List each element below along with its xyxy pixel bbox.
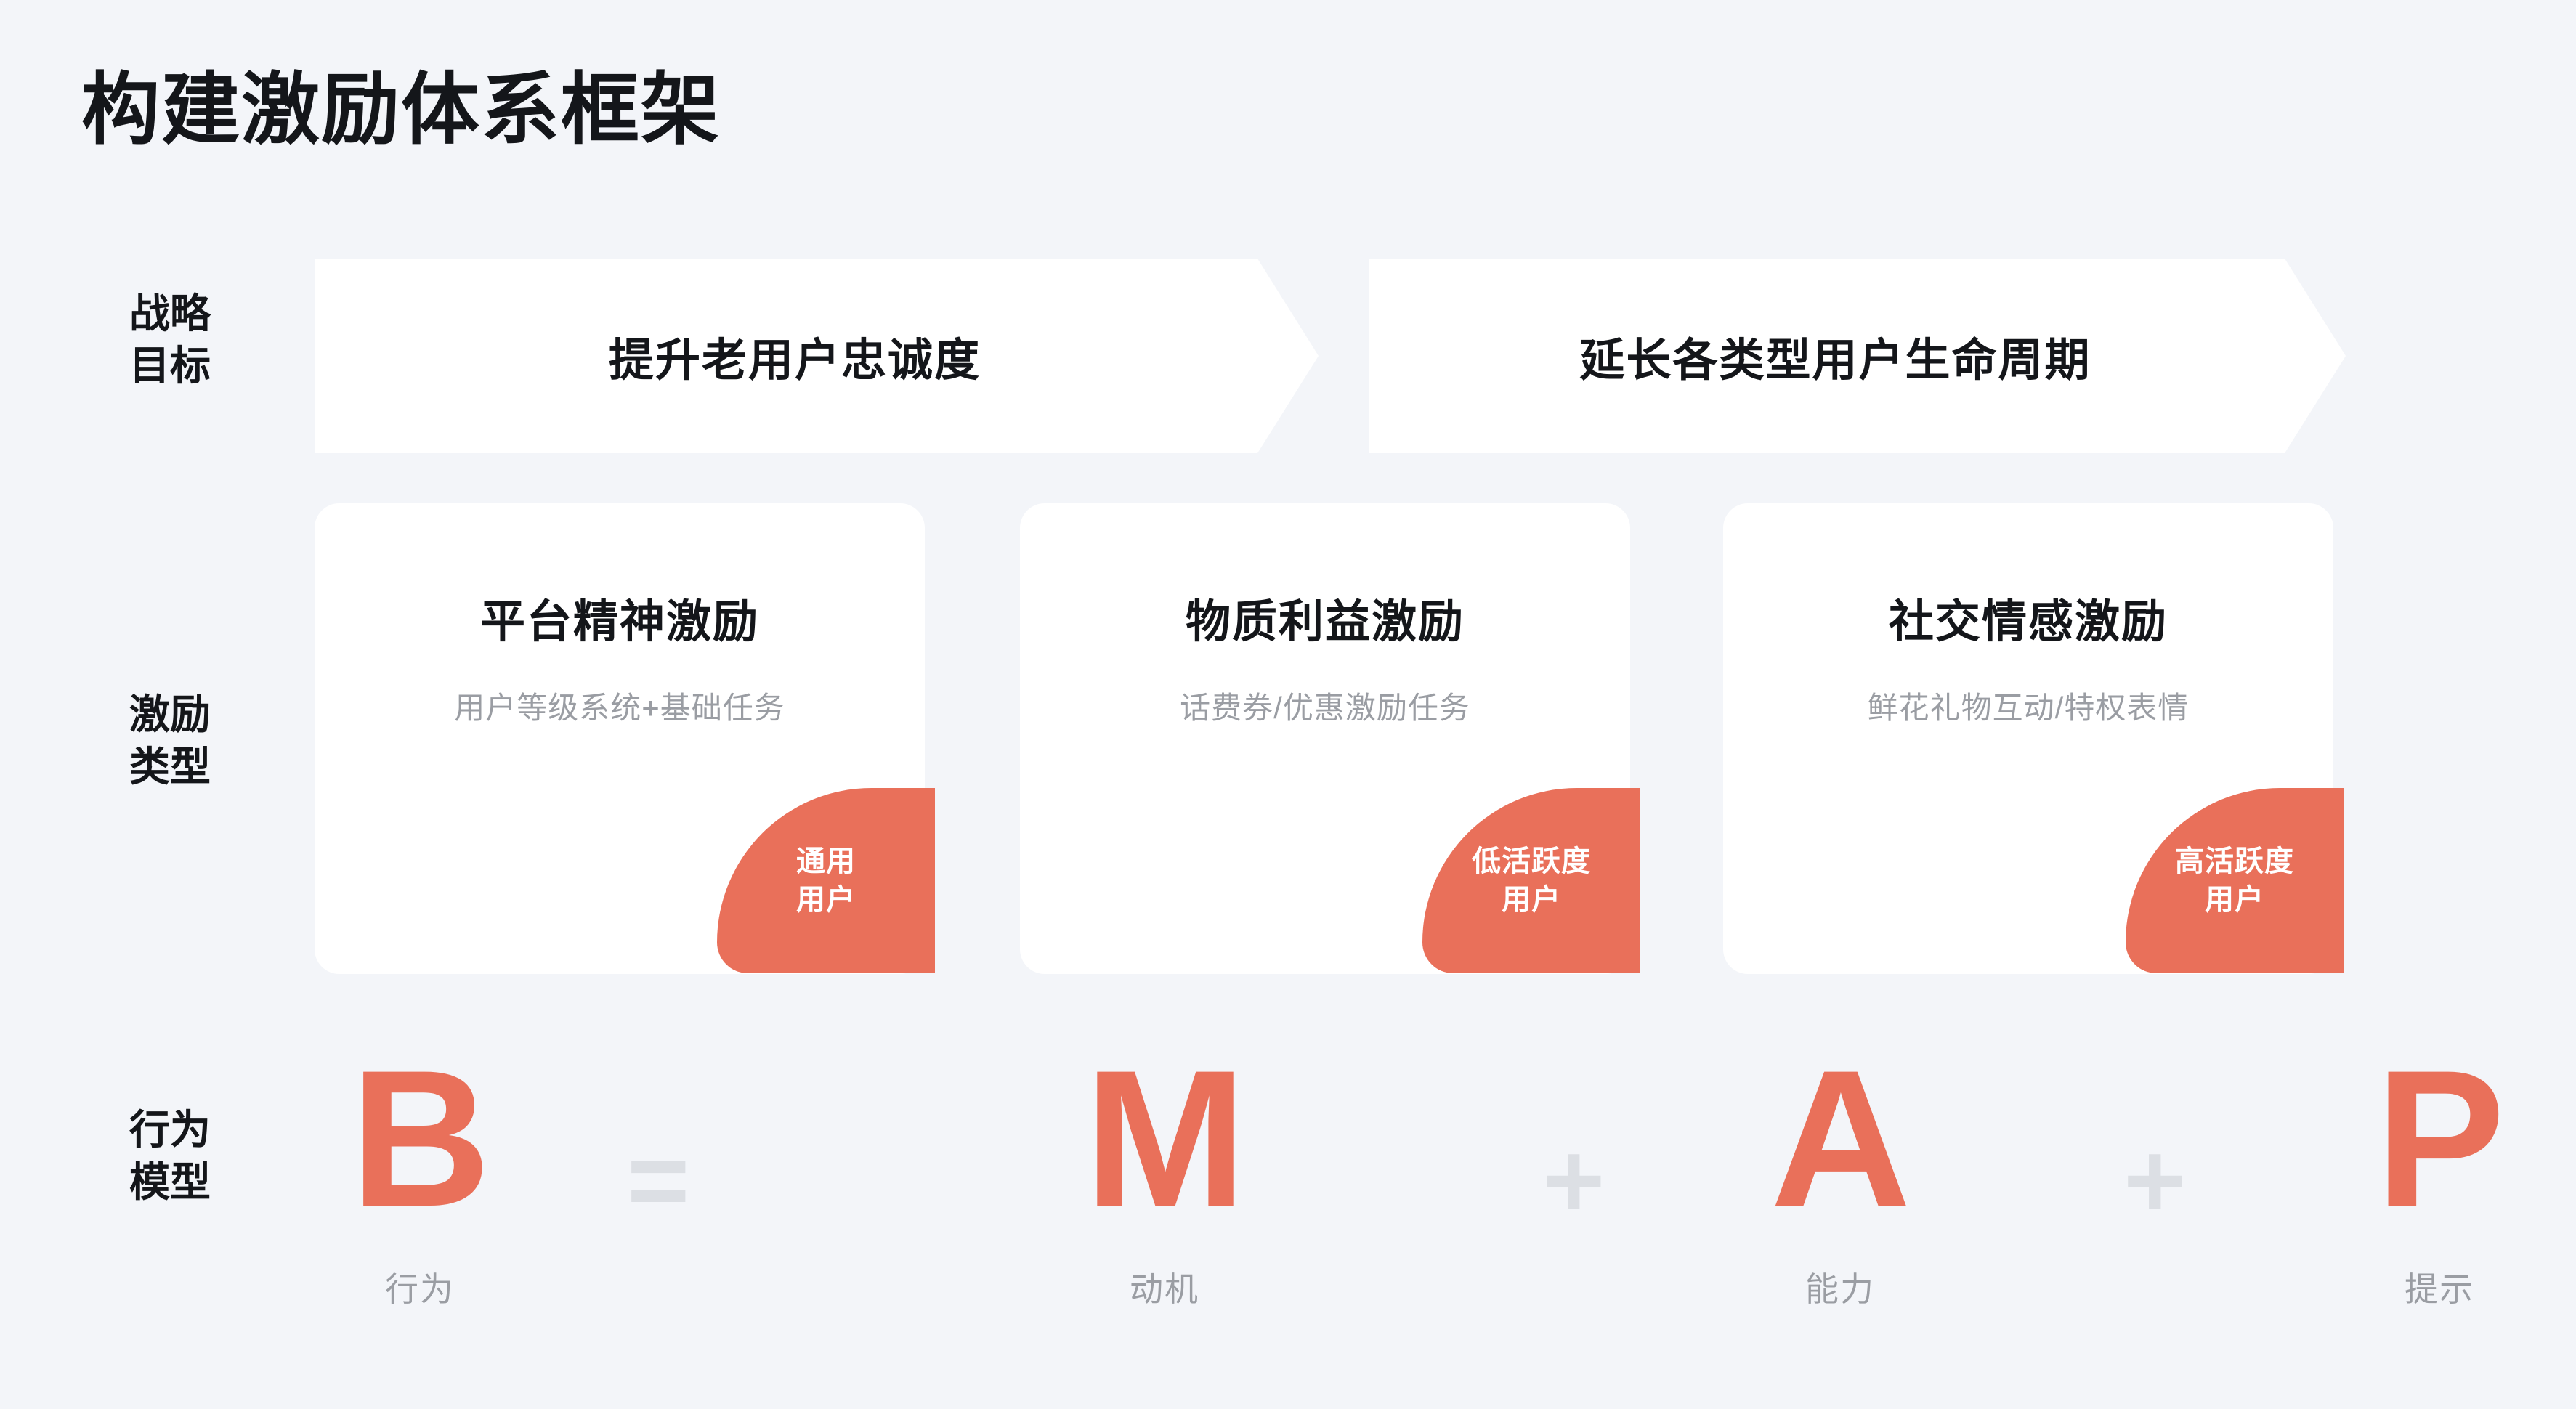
formula-caption-m: 动机 xyxy=(1048,1263,1281,1311)
incentive-card-2-title: 物质利益激励 xyxy=(1020,585,1630,650)
row-label-behavior: 行为 模型 xyxy=(129,1104,296,1208)
formula-term-b: B 行为 xyxy=(333,1046,507,1311)
slide-canvas: 构建激励体系框架 战略 目标 提升老用户忠诚度 延长各类型用户生命周期 激励 类… xyxy=(0,0,2576,1409)
incentive-card-3-subtitle: 鲜花礼物互动/特权表情 xyxy=(1723,683,2333,728)
formula-letter-p: P xyxy=(2349,1046,2530,1231)
row-label-incentive: 激励 类型 xyxy=(129,689,296,792)
formula-letter-m: M xyxy=(1048,1046,1281,1231)
formula-letter-a: A xyxy=(1735,1046,1945,1231)
formula-caption-a: 能力 xyxy=(1735,1263,1945,1311)
formula-caption-b: 行为 xyxy=(333,1263,507,1311)
incentive-card-2-subtitle: 话费券/优惠激励任务 xyxy=(1020,683,1630,728)
formula-term-p: P 提示 xyxy=(2349,1046,2530,1311)
strategy-banner-1[interactable]: 提升老用户忠诚度 xyxy=(315,259,1319,453)
strategy-banner-2-label: 延长各类型用户生命周期 xyxy=(1579,323,2091,389)
formula-operator-equals: = xyxy=(627,1127,689,1235)
formula-operator-plus-1: + xyxy=(1542,1127,1605,1235)
incentive-card-1-subtitle: 用户等级系统+基础任务 xyxy=(315,683,925,728)
formula-operator-plus-2: + xyxy=(2123,1127,2186,1235)
formula-caption-p: 提示 xyxy=(2349,1263,2530,1311)
row-label-strategy: 战略 目标 xyxy=(129,288,296,391)
behavior-model-formula: B 行为 = M 动机 + A 能力 + P 提示 xyxy=(315,1046,2349,1380)
strategy-banner-1-label: 提升老用户忠诚度 xyxy=(609,323,981,389)
formula-term-m: M 动机 xyxy=(1048,1046,1281,1311)
formula-term-a: A 能力 xyxy=(1735,1046,1945,1311)
incentive-card-3-title: 社交情感激励 xyxy=(1723,585,2333,650)
strategy-banner-2[interactable]: 延长各类型用户生命周期 xyxy=(1369,259,2346,453)
formula-letter-b: B xyxy=(333,1046,507,1231)
page-title: 构建激励体系框架 xyxy=(81,62,721,157)
incentive-card-1-title: 平台精神激励 xyxy=(315,585,925,650)
